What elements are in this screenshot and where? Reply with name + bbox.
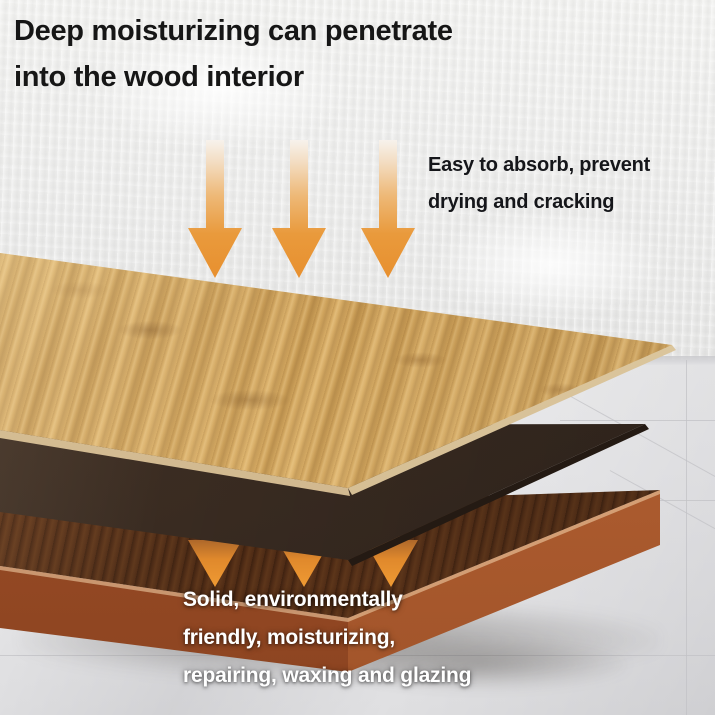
page-title-line-2: into the wood interior — [14, 54, 634, 100]
page-title: Deep moisturizing can penetrate into the… — [14, 8, 634, 100]
callout-bottom-line-2: friendly, moisturizing, — [183, 619, 603, 657]
floor-grout-line — [560, 420, 715, 421]
infographic-canvas: Deep moisturizing can penetrate into the… — [0, 0, 715, 715]
callout-top-right: Easy to absorb, prevent drying and crack… — [428, 147, 715, 221]
callout-bottom-line-3: repairing, waxing and glazing — [183, 657, 603, 695]
floor-grout-line-vertical — [686, 360, 687, 715]
page-title-line-1: Deep moisturizing can penetrate — [14, 8, 634, 54]
penetration-arrow-top-1 — [186, 140, 244, 280]
callout-top-right-line-2: drying and cracking — [428, 184, 715, 221]
callout-bottom: Solid, environmentally friendly, moistur… — [183, 581, 603, 695]
callout-top-right-line-1: Easy to absorb, prevent — [428, 147, 715, 184]
penetration-arrow-top-3 — [359, 140, 417, 280]
callout-bottom-line-1: Solid, environmentally — [183, 581, 603, 619]
penetration-arrow-top-2 — [270, 140, 328, 280]
wall-highlight — [430, 210, 670, 320]
